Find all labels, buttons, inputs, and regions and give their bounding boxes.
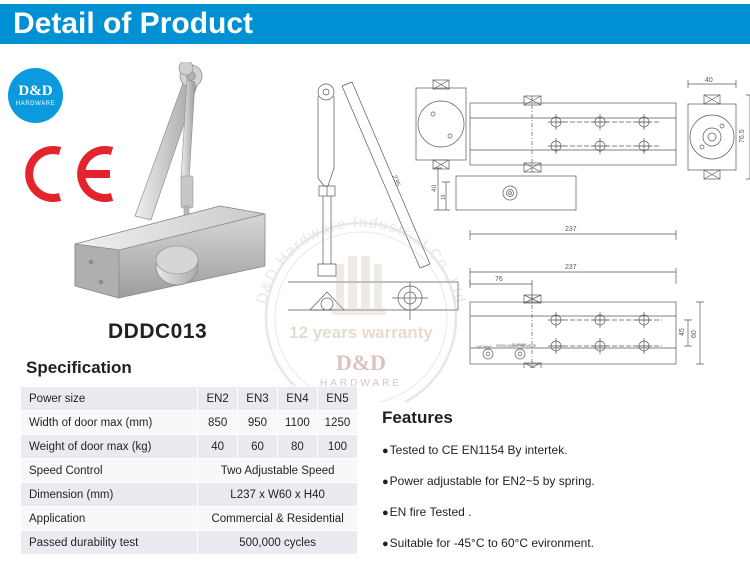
list-item: ●EN fire Tested . — [382, 506, 732, 519]
spec-row-label: Application — [21, 507, 198, 531]
bullet-icon: ● — [382, 445, 389, 457]
spec-row-label: Power size — [21, 387, 198, 411]
spec-row-value: 500,000 cycles — [198, 531, 358, 555]
spec-row-value: 1250 — [317, 411, 357, 435]
spec-row-value: 100 — [317, 435, 357, 459]
fixing-holes-lower-row-bottom — [548, 338, 662, 354]
list-item: ●Suitable for -45°C to 60°C evironment. — [382, 537, 732, 550]
dimension-40-side: 40 — [431, 184, 438, 192]
fixing-holes-upper — [548, 114, 660, 130]
spec-row-value: Commercial & Residential — [198, 507, 358, 531]
spec-row-value: 60 — [238, 435, 278, 459]
drawing-end-view-dims: 40 76.5 — [688, 77, 750, 179]
drawing-arm-side-view: 235 — [288, 82, 458, 320]
spec-row-label: Dimension (mm) — [21, 483, 198, 507]
dimension-76: 76 — [495, 276, 503, 283]
product-model-name: DDDC013 — [108, 320, 207, 344]
table-row: Speed ControlTwo Adjustable Speed — [21, 459, 358, 483]
spec-row-label: Speed Control — [21, 459, 198, 483]
page-title: Detail of Product — [0, 9, 253, 39]
spec-row-value: EN2 — [198, 387, 238, 411]
spec-row-value: 950 — [238, 411, 278, 435]
list-item: ●Tested to CE EN1154 By intertek. — [382, 444, 732, 457]
dimension-76-5: 76.5 — [739, 129, 746, 143]
bullet-icon: ● — [382, 538, 389, 550]
brand-logo-tagline: HARDWARE — [16, 101, 56, 107]
fixing-holes-lower-row-top — [548, 312, 662, 328]
dimension-237-top: 237 — [565, 226, 577, 233]
specification-heading: Specification — [26, 358, 132, 378]
speed-adjusting-valves: LATCHING SPEED ADJUSTING VALVE CLOSING — [476, 343, 536, 359]
specification-table: Power sizeEN2EN3EN4EN5Width of door max … — [20, 386, 358, 555]
dimension-237-upper-group: 237 — [470, 226, 676, 240]
technical-drawings: 235 — [288, 58, 750, 368]
feature-text: EN fire Tested . — [390, 505, 472, 519]
brand-logo-name: D&D — [18, 84, 52, 99]
table-row: Passed durability test500,000 cycles — [21, 531, 358, 555]
bullet-icon: ● — [382, 476, 389, 488]
dimension-60: 60 — [691, 330, 698, 338]
spec-row-value: 80 — [277, 435, 317, 459]
dimension-237-total: 237 — [565, 264, 577, 271]
bullet-icon: ● — [382, 507, 389, 519]
features-heading: Features — [382, 408, 453, 428]
spec-row-value: 1100 — [277, 411, 317, 435]
list-item: ●Power adjustable for EN2~5 by spring. — [382, 475, 732, 488]
table-row: Dimension (mm)L237 x W60 x H40 — [21, 483, 358, 507]
dimension-235: 235 — [390, 174, 401, 188]
spec-row-label: Passed durability test — [21, 531, 198, 555]
table-row: Width of door max (mm)85095011001250 — [21, 411, 358, 435]
fixing-holes-lower — [548, 138, 660, 154]
spec-row-value: EN5 — [317, 387, 357, 411]
spec-row-value: EN3 — [238, 387, 278, 411]
spec-row-value: 40 — [198, 435, 238, 459]
feature-text: Suitable for -45°C to 60°C evironment. — [390, 536, 594, 550]
table-row: Power sizeEN2EN3EN4EN5 — [21, 387, 358, 411]
dimension-19-side: 19 — [441, 194, 447, 200]
drawing-end-plate — [416, 80, 466, 169]
valve-label-closing: CLOSING — [512, 343, 527, 347]
valve-label-latching: LATCHING — [476, 345, 492, 349]
feature-text: Power adjustable for EN2~5 by spring. — [390, 474, 595, 488]
table-row: Weight of door max (kg)406080100 — [21, 435, 358, 459]
features-list: ●Tested to CE EN1154 By intertek.●Power … — [382, 444, 732, 568]
dimension-40-end: 40 — [705, 77, 713, 84]
feature-text: Tested to CE EN1154 By intertek. — [390, 443, 568, 457]
product-photo — [55, 62, 285, 302]
table-row: ApplicationCommercial & Residential — [21, 507, 358, 531]
spec-row-label: Weight of door max (kg) — [21, 435, 198, 459]
spec-row-value: EN4 — [277, 387, 317, 411]
spec-row-value: Two Adjustable Speed — [198, 459, 358, 483]
spec-row-value: 850 — [198, 411, 238, 435]
spec-row-label: Width of door max (mm) — [21, 411, 198, 435]
dimension-45: 45 — [679, 328, 686, 336]
drawing-plan-view-upper — [470, 96, 676, 172]
drawing-plan-view-lower: 237 76 LATCHING — [470, 264, 704, 368]
spec-row-value: L237 x W60 x H40 — [198, 483, 358, 507]
drawing-side-profile-dims: 40 19 — [431, 168, 576, 210]
closer-knob — [156, 246, 198, 285]
page-header-banner: Detail of Product — [0, 4, 750, 44]
specification-table-body: Power sizeEN2EN3EN4EN5Width of door max … — [21, 387, 358, 555]
